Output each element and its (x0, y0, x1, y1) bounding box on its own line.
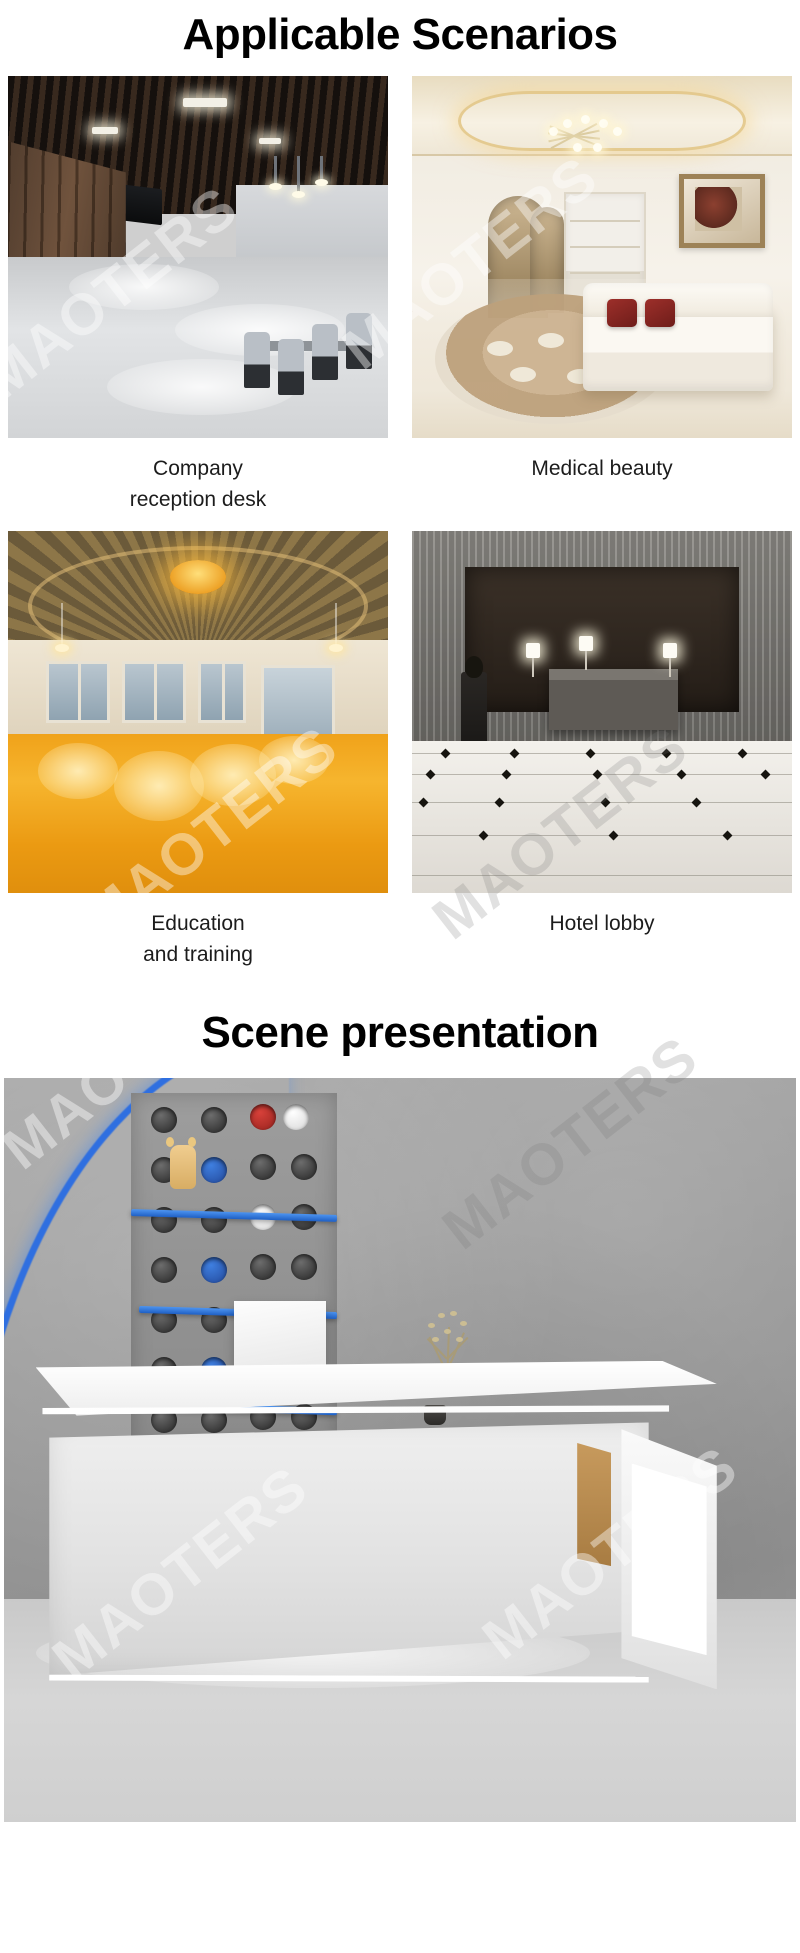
desk-base-led-strip (49, 1675, 648, 1683)
dome-light (170, 560, 226, 594)
pendant-lamp (274, 156, 277, 184)
glass-door (261, 665, 335, 739)
ceiling-light (92, 127, 118, 134)
pendant-lamp (320, 156, 323, 180)
table-lamp (526, 643, 540, 677)
window (122, 661, 186, 723)
scenario-caption: Medical beauty (527, 438, 676, 498)
chair (278, 339, 304, 395)
watermark-text: MAOTERS (120, 1843, 401, 1953)
floor-reflection (259, 736, 329, 784)
scenario-image-education-and-training (8, 531, 388, 893)
scene-presentation-section (0, 1078, 800, 1822)
scene-presentation-heading: Scene presentation (0, 1010, 800, 1056)
product-detail-page: Applicable Scenarios (0, 0, 800, 1953)
scenario-cell-company-reception-desk[interactable]: Company reception desk (8, 76, 388, 529)
pendant-lamp (297, 156, 300, 192)
hero-product-image (4, 1078, 796, 1822)
desk-front-panel (49, 1422, 648, 1675)
table-lamp (579, 636, 593, 670)
ceiling-light (183, 98, 227, 107)
desk-side-led-panel (632, 1464, 707, 1656)
ceiling-light (259, 138, 281, 144)
table-lamp (663, 643, 677, 677)
scenario-image-company-reception-desk (8, 76, 388, 438)
scenario-caption: Hotel lobby (545, 893, 658, 953)
wood-accent-panel (577, 1443, 611, 1566)
chandelier (547, 109, 627, 163)
scenario-image-hotel-lobby (412, 531, 792, 893)
checkerboard-floor (412, 741, 792, 893)
scenario-caption: Education and training (139, 893, 257, 984)
scenario-cell-medical-beauty[interactable]: Medical beauty (412, 76, 792, 529)
floor-reflection (38, 743, 118, 799)
pendant-lamp (335, 603, 337, 645)
floor-reflection (114, 751, 204, 821)
scenario-cell-hotel-lobby[interactable]: Hotel lobby (412, 531, 792, 984)
bear-figurine (170, 1145, 196, 1189)
reception-desk (549, 669, 678, 731)
sofa (583, 305, 773, 391)
scenario-cell-education-and-training[interactable]: Education and training (8, 531, 388, 984)
chair (346, 313, 372, 369)
window (198, 661, 246, 723)
reception-desk (36, 1361, 717, 1703)
pendant-lamp (61, 603, 63, 645)
scenario-image-medical-beauty (412, 76, 792, 438)
scenario-caption: Company reception desk (126, 438, 271, 529)
framed-artwork (679, 174, 765, 248)
applicable-scenarios-heading: Applicable Scenarios (0, 12, 800, 58)
window (46, 661, 110, 723)
scenario-grid: Company reception desk (0, 76, 800, 984)
chair (244, 332, 270, 388)
chair (312, 324, 338, 380)
